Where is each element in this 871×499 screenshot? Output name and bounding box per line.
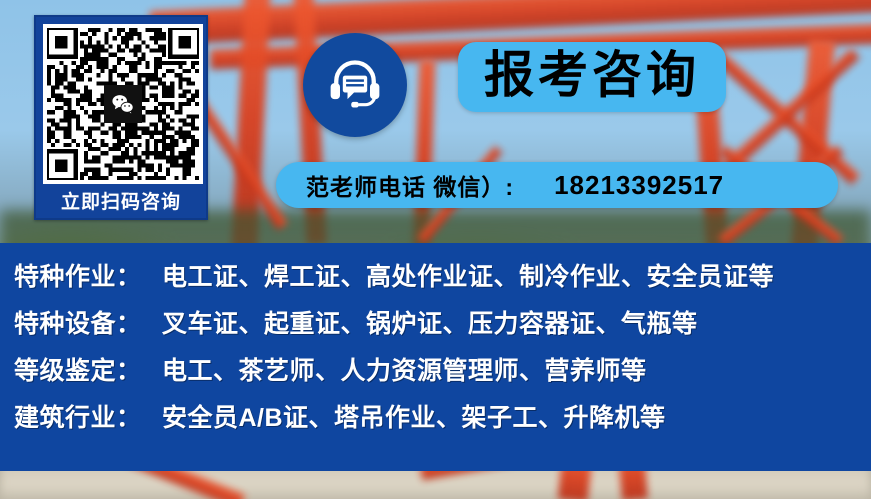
qr-code-icon xyxy=(47,28,199,180)
contact-phone-number[interactable]: 18213392517 xyxy=(554,170,724,201)
service-row: 特种设备： 叉车证、起重证、锅炉证、压力容器证、气瓶等 xyxy=(0,304,871,351)
service-items: 电工、茶艺师、人力资源管理师、营养师等 xyxy=(162,351,647,387)
services-panel: 特种作业： 电工证、焊工证、高处作业证、制冷作业、安全员证等 特种设备： 叉车证… xyxy=(0,243,871,471)
qr-code-frame xyxy=(43,24,203,184)
service-category-label: 特种设备： xyxy=(14,304,162,340)
promo-poster: 立即扫码咨询 报考咨询 范老师电话 微信）: 18213392517 特种作业：… xyxy=(0,0,871,499)
service-row: 特种作业： 电工证、焊工证、高处作业证、制冷作业、安全员证等 xyxy=(0,257,871,304)
service-row: 建筑行业： 安全员A/B证、塔吊作业、架子工、升降机等 xyxy=(0,398,871,445)
contact-bar[interactable]: 范老师电话 微信）: 18213392517 xyxy=(276,162,838,208)
qr-card[interactable]: 立即扫码咨询 xyxy=(34,15,208,220)
service-items: 电工证、焊工证、高处作业证、制冷作业、安全员证等 xyxy=(162,257,774,293)
contact-label: 范老师电话 微信）: xyxy=(306,168,514,202)
qr-caption: 立即扫码咨询 xyxy=(43,184,199,221)
wechat-logo-icon xyxy=(104,85,142,123)
headset-support-icon xyxy=(303,33,407,137)
service-category-label: 特种作业： xyxy=(14,257,162,293)
page-title: 报考咨询 xyxy=(458,42,726,112)
service-items: 安全员A/B证、塔吊作业、架子工、升降机等 xyxy=(162,398,666,434)
service-items: 叉车证、起重证、锅炉证、压力容器证、气瓶等 xyxy=(162,304,698,340)
service-category-label: 建筑行业： xyxy=(14,398,162,434)
service-row: 等级鉴定： 电工、茶艺师、人力资源管理师、营养师等 xyxy=(0,351,871,398)
service-category-label: 等级鉴定： xyxy=(14,351,162,387)
